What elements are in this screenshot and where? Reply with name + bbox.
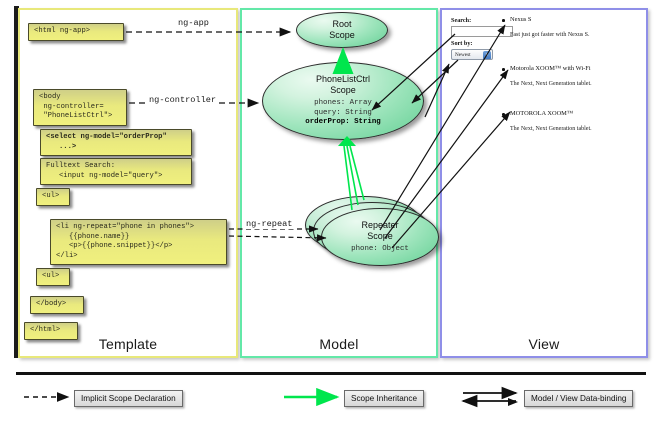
panel-model-label: Model: [242, 336, 436, 352]
sort-by-label: Sort by:: [451, 40, 472, 47]
edge-label-ng-controller: ng-controller: [147, 95, 218, 105]
search-label: Search:: [451, 17, 471, 24]
bullet-icon: [502, 68, 505, 71]
list-item: Nexus S Fast just got faster with Nexus …: [510, 16, 640, 39]
list-item: MOTOROLA XOOM™ The Next, Next Generation…: [510, 110, 640, 133]
chevron-updown-icon[interactable]: ▾: [483, 51, 491, 60]
edge-label-ng-repeat: ng-repeat: [244, 219, 294, 229]
phone-snippet: The Next, Next Generation tablet.: [510, 125, 640, 133]
repeater-scope: RepeaterScope phone: Object: [321, 208, 439, 266]
code-box-ul-close: <ul>: [36, 268, 70, 286]
root-scope: RootScope: [296, 12, 388, 48]
prop-phones: phones: Array: [314, 99, 372, 107]
search-input[interactable]: [451, 26, 513, 37]
panel-view-label: View: [442, 336, 646, 352]
repeater-scope-props: phone: Object: [351, 245, 409, 254]
angularjs-architecture-diagram: Template Model View <html ng-app> <body …: [0, 0, 661, 425]
phone-name: MOTOROLA XOOM™: [510, 110, 640, 118]
bullet-icon: [502, 19, 505, 22]
phone-snippet: The Next, Next Generation tablet.: [510, 80, 640, 88]
root-scope-title: RootScope: [329, 19, 355, 41]
code-box-body-open: <body ng-controller= "PhoneListCtrl">: [33, 89, 127, 126]
legend-scope-inheritance: Scope Inheritance: [344, 390, 424, 407]
phone-name: Nexus S: [510, 16, 640, 24]
phone-snippet: Fast just got faster with Nexus S.: [510, 31, 640, 39]
code-box-html-open: <html ng-app>: [28, 23, 124, 41]
list-item: Motorola XOOM™ with Wi-Fi The Next, Next…: [510, 65, 640, 88]
phonelistctrl-scope-title: PhoneListCtrlScope: [316, 74, 370, 96]
panel-model: Model: [240, 8, 438, 358]
view-browser-mock: Search: Sort by: Newest ▾ Nexus S Fast j…: [447, 13, 643, 338]
code-box-fulltext-search: Fulltext Search: <input ng-model="query"…: [40, 158, 192, 185]
bullet-icon: [502, 113, 505, 116]
code-box-body-close: </body>: [30, 296, 84, 314]
code-box-li-ng-repeat: <li ng-repeat="phone in phones"> {{phone…: [50, 219, 227, 265]
repeater-scope-title: RepeaterScope: [361, 220, 398, 242]
legend-model-view-data-binding: Model / View Data-binding: [524, 390, 633, 407]
code-box-select-tag: <select ng-model="orderProp" ...>: [40, 129, 192, 156]
phonelistctrl-scope-props: phones: Array query: String orderProp: S…: [305, 99, 380, 127]
edge-label-ng-app: ng-app: [176, 18, 211, 28]
phonelistctrl-scope: PhoneListCtrlScope phones: Array query: …: [262, 62, 424, 140]
code-box-html-close: </html>: [24, 322, 78, 340]
legend-implicit-scope-declaration: Implicit Scope Declaration: [74, 390, 183, 407]
phone-name: Motorola XOOM™ with Wi-Fi: [510, 65, 640, 73]
code-box-ul-open: <ul>: [36, 188, 70, 206]
legend-glyph-binding-extra: [508, 398, 518, 406]
sort-by-selected-value: Newest: [455, 52, 471, 58]
prop-query: query: String: [314, 109, 372, 117]
sort-by-select[interactable]: Newest ▾: [451, 49, 493, 60]
legend-divider: [16, 372, 646, 375]
prop-orderprop: orderProp: String: [305, 118, 380, 126]
